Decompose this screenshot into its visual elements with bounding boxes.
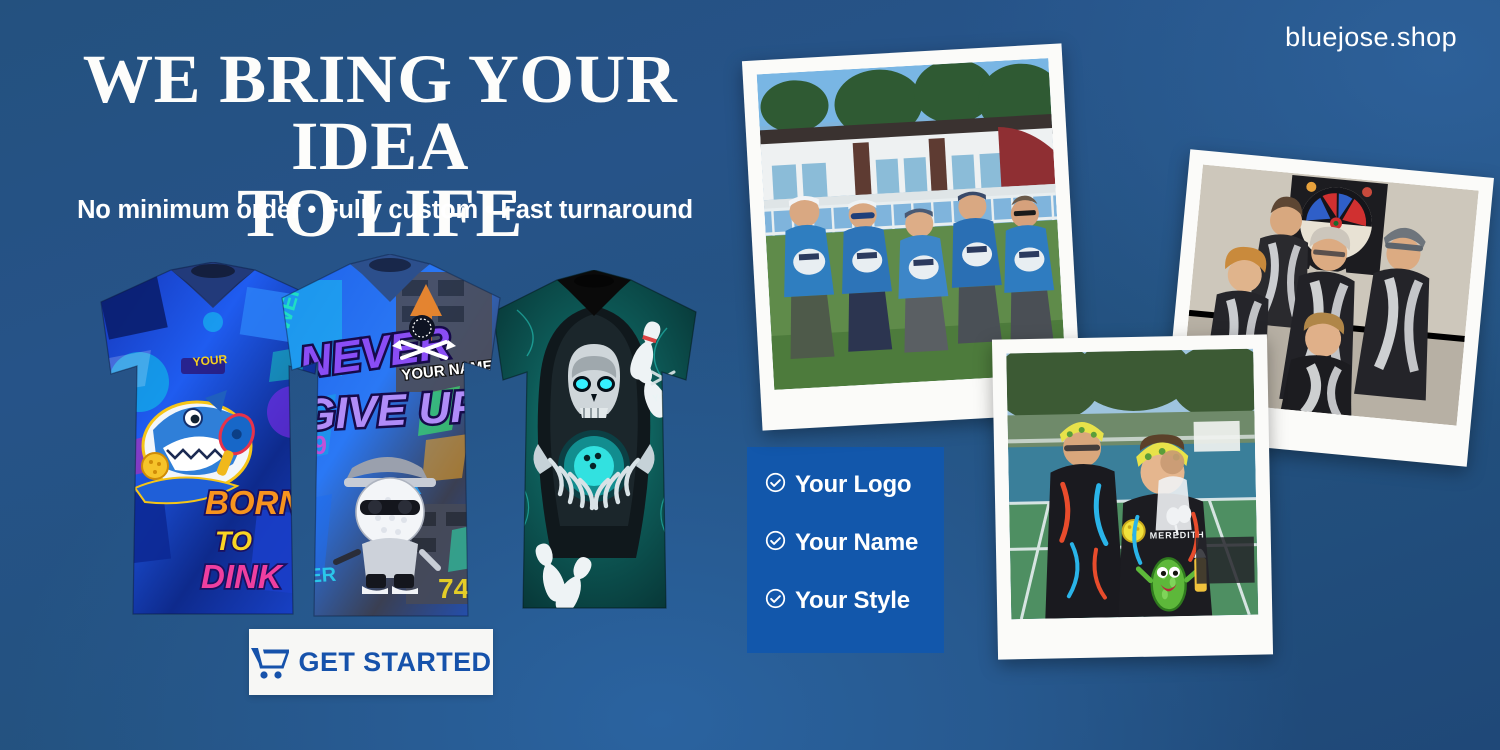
photo-team-pickleball-image: MEREDITH: [1006, 349, 1258, 620]
features-panel: Your Logo Your Name Your Style: [747, 447, 944, 653]
get-started-button[interactable]: GET STARTED: [249, 629, 493, 695]
svg-text:DINK: DINK: [201, 558, 284, 595]
check-circle-icon: [765, 472, 786, 498]
feature-item-your-style[interactable]: Your Style: [765, 587, 944, 615]
brand-wordmark: bluejose.shop: [1285, 22, 1457, 53]
svg-text:TO: TO: [215, 526, 252, 556]
shopping-cart-icon: [251, 646, 289, 679]
check-circle-icon: [765, 588, 786, 614]
svg-text:74: 74: [438, 573, 470, 604]
promo-banner: bluejose.shop WE BRING YOUR IDEA TO LIFE…: [0, 0, 1500, 750]
feature-item-your-name[interactable]: Your Name: [765, 529, 944, 557]
feature-label: Your Style: [795, 587, 910, 615]
svg-text:WER: WER: [289, 564, 338, 589]
svg-text:GIVE UP: GIVE UP: [300, 382, 481, 440]
feature-label: Your Name: [795, 529, 918, 557]
feature-label: Your Logo: [795, 471, 911, 499]
product-shirt-never-give-up[interactable]: WER WER R 74 49 NEVER GIVE UP: [276, 254, 506, 622]
get-started-label: GET STARTED: [299, 647, 492, 678]
photo-team-pickleball[interactable]: MEREDITH: [992, 334, 1273, 659]
product-shirt-reaper-bowling[interactable]: YOUR: [487, 270, 702, 614]
check-circle-icon: [765, 530, 786, 556]
feature-item-your-logo[interactable]: Your Logo: [765, 471, 944, 499]
